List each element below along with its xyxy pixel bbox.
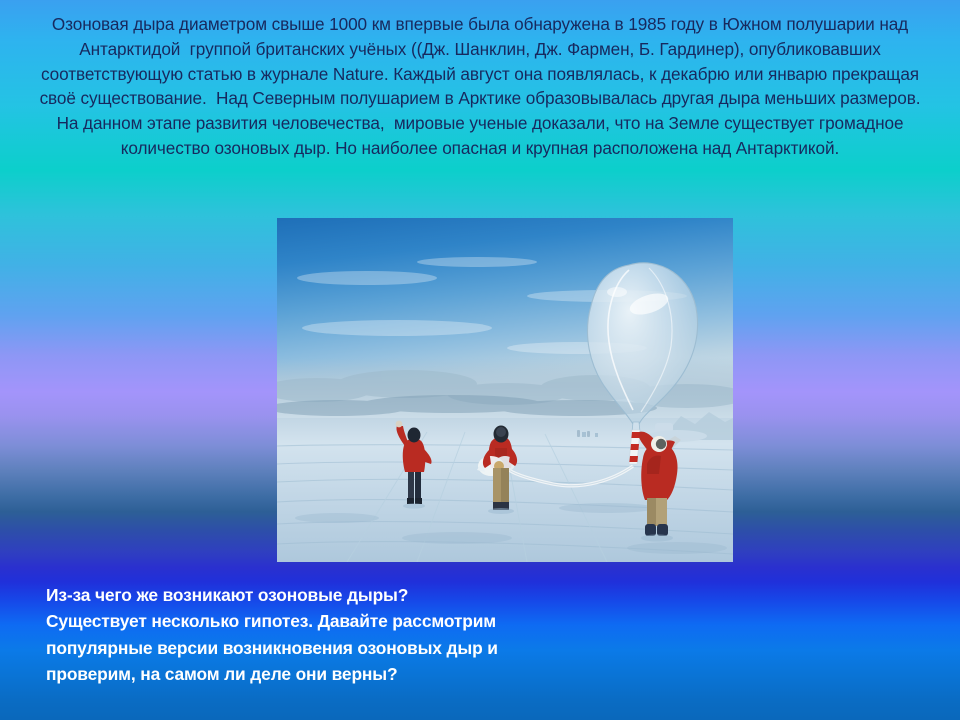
photo-artwork (277, 218, 733, 562)
ozone-hole-question-callout: Из-за чего же возникают озоновые дыры? С… (46, 582, 606, 688)
antarctic-balloon-launch-photo (277, 218, 733, 562)
presentation-slide: Озоновая дыра диаметром свыше 1000 км вп… (0, 0, 960, 720)
ozone-hole-description-paragraph: Озоновая дыра диаметром свыше 1000 км вп… (36, 12, 924, 161)
